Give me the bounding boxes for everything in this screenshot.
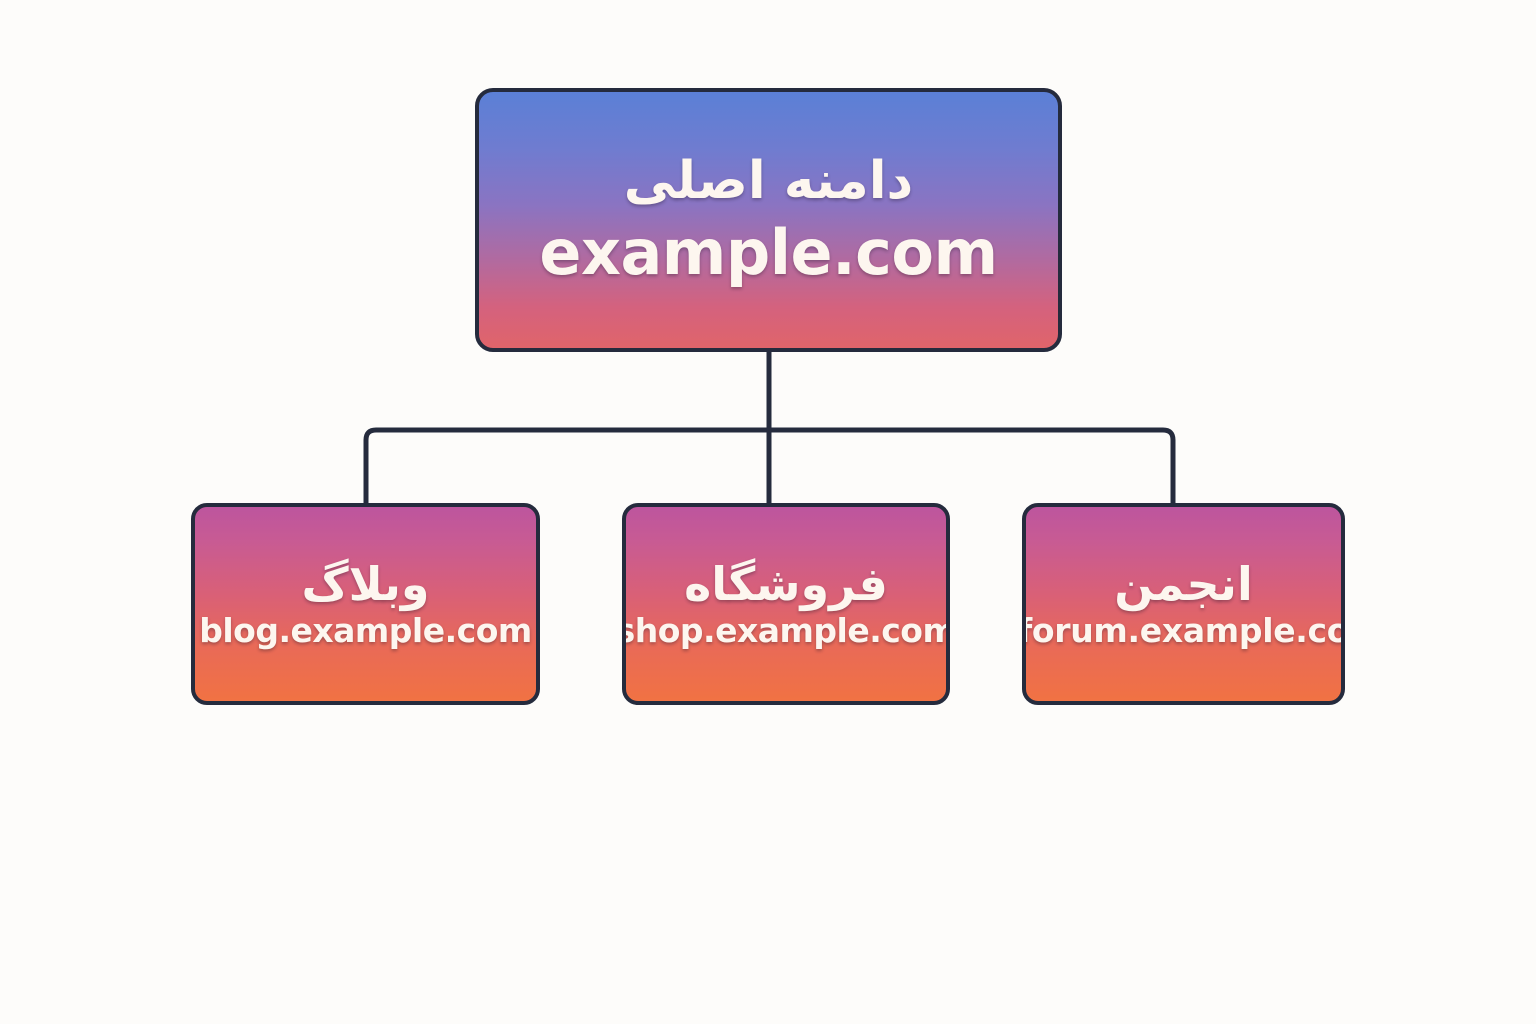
diagram-canvas: دامنه اصلی example.com وبلاگ blog.exampl… xyxy=(0,0,1536,1024)
node-shop-subtitle: shop.example.com xyxy=(622,613,950,649)
node-subdomain-forum[interactable]: انجمن forum.example.co xyxy=(1022,503,1345,705)
node-subdomain-shop[interactable]: فروشگاه shop.example.com xyxy=(622,503,950,705)
node-forum-title: انجمن xyxy=(1114,559,1252,610)
node-blog-title: وبلاگ xyxy=(302,559,430,610)
node-root-subtitle: example.com xyxy=(539,219,997,287)
node-subdomain-blog[interactable]: وبلاگ blog.example.com xyxy=(191,503,540,705)
node-blog-subtitle: blog.example.com xyxy=(199,613,532,649)
connector-bus-right xyxy=(769,430,1173,503)
node-shop-title: فروشگاه xyxy=(684,559,888,610)
connector-bus-left xyxy=(366,430,769,503)
node-root-title: دامنه اصلی xyxy=(624,153,913,210)
node-root-domain[interactable]: دامنه اصلی example.com xyxy=(475,88,1062,352)
node-forum-subtitle: forum.example.co xyxy=(1022,613,1345,649)
